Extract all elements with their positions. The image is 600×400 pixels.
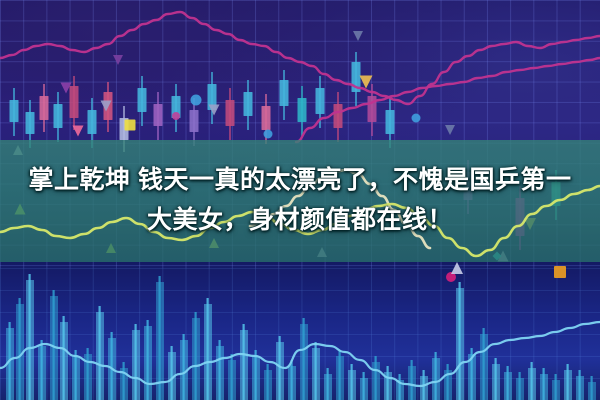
- screenshot-canvas: 掌上乾坤 钱天一真的太漂亮了，不愧是国乒第一 大美女，身材颜值都在线！: [0, 0, 600, 400]
- headline-line-1: 掌上乾坤 钱天一真的太漂亮了，不愧是国乒第一: [0, 160, 600, 200]
- headline-text: 掌上乾坤 钱天一真的太漂亮了，不愧是国乒第一 大美女，身材颜值都在线！: [0, 160, 600, 240]
- headline-line-2: 大美女，身材颜值都在线！: [0, 200, 600, 240]
